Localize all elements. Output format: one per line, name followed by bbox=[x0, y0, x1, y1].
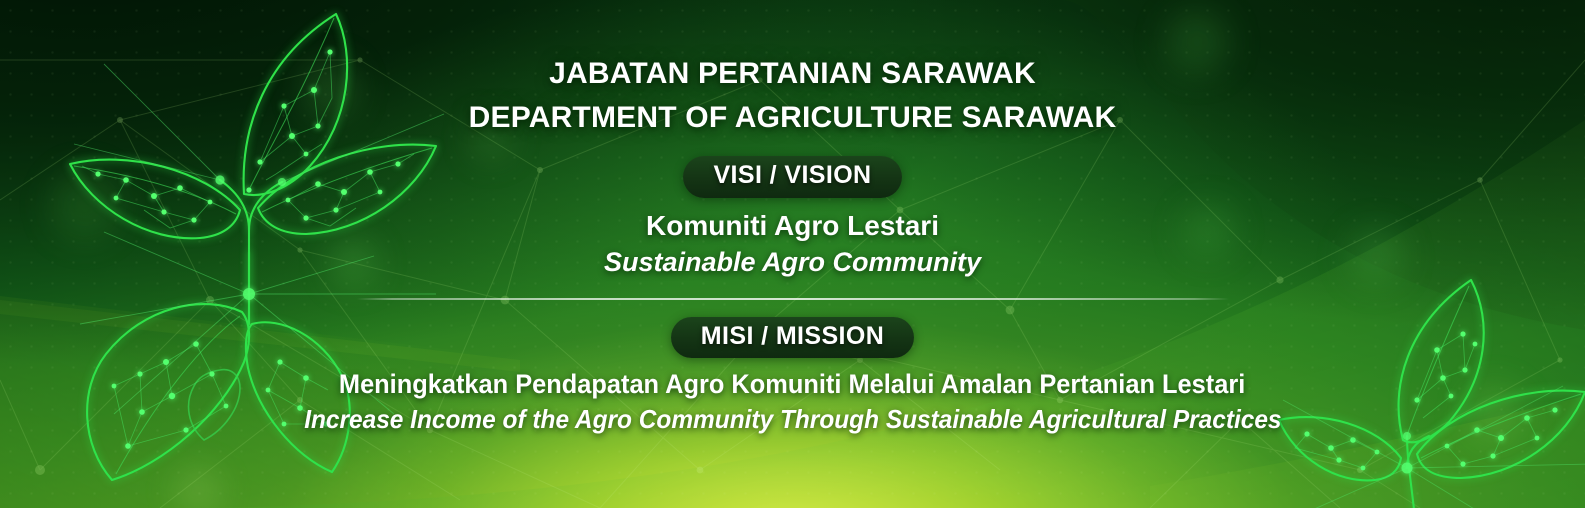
title-line-malay: JABATAN PERTANIAN SARAWAK bbox=[469, 52, 1117, 96]
vision-badge-container: VISI / VISION bbox=[683, 156, 901, 198]
section-divider bbox=[357, 298, 1229, 300]
banner-content: JABATAN PERTANIAN SARAWAK DEPARTMENT OF … bbox=[0, 0, 1585, 508]
mission-statement-malay: Meningkatkan Pendapatan Agro Komuniti Me… bbox=[339, 369, 1245, 400]
mission-badge: MISI / MISSION bbox=[671, 317, 914, 359]
vision-mission-banner: JABATAN PERTANIAN SARAWAK DEPARTMENT OF … bbox=[0, 0, 1585, 508]
mission-badge-container: MISI / MISSION bbox=[671, 317, 914, 359]
vision-badge: VISI / VISION bbox=[683, 156, 901, 198]
page-title: JABATAN PERTANIAN SARAWAK DEPARTMENT OF … bbox=[469, 52, 1117, 140]
mission-statement-english: Increase Income of the Agro Community Th… bbox=[304, 404, 1281, 435]
vision-statement-english: Sustainable Agro Community bbox=[604, 247, 981, 278]
vision-statement-malay: Komuniti Agro Lestari bbox=[646, 210, 939, 242]
title-line-english: DEPARTMENT OF AGRICULTURE SARAWAK bbox=[469, 96, 1117, 140]
